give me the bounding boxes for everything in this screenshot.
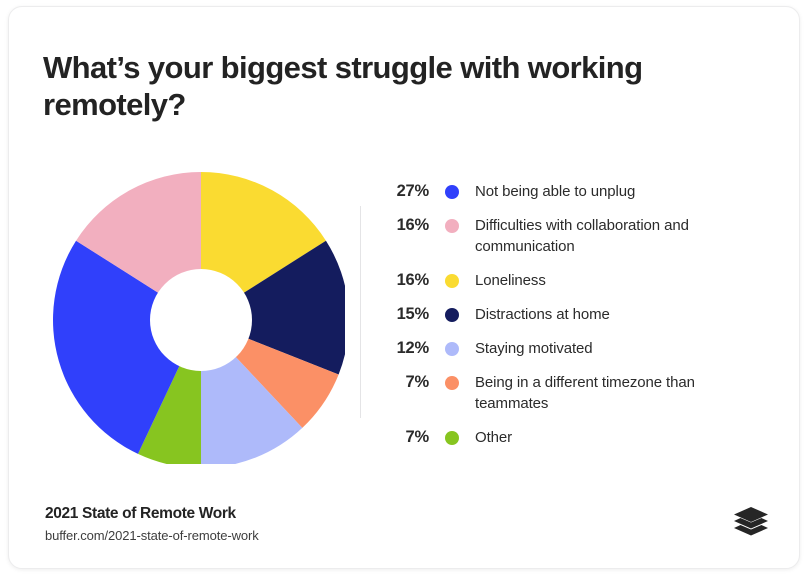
legend-item[interactable]: 7%Other — [383, 427, 773, 448]
legend-divider — [360, 206, 361, 418]
legend-item-percent: 12% — [383, 338, 429, 359]
legend-item[interactable]: 16%Difficulties with collaboration and c… — [383, 215, 773, 257]
legend-item-percent: 7% — [383, 427, 429, 448]
donut-center-hole — [150, 269, 252, 371]
buffer-layers-logo — [732, 505, 770, 539]
legend-item-percent: 16% — [383, 215, 429, 236]
legend-item-label: Being in a different timezone than teamm… — [475, 372, 765, 414]
footer-url: buffer.com/2021-state-of-remote-work — [45, 528, 259, 543]
legend-color-swatch — [445, 431, 459, 445]
footer-report-title: 2021 State of Remote Work — [45, 505, 236, 523]
chart-legend: 27%Not being able to unplug16%Difficulti… — [383, 181, 773, 448]
legend-item[interactable]: 7%Being in a different timezone than tea… — [383, 372, 773, 414]
legend-item-percent: 7% — [383, 372, 429, 393]
legend-item-percent: 16% — [383, 270, 429, 291]
legend-item-label: Loneliness — [475, 270, 546, 291]
legend-color-swatch — [445, 376, 459, 390]
legend-item-percent: 15% — [383, 304, 429, 325]
legend-item[interactable]: 15%Distractions at home — [383, 304, 773, 325]
legend-color-swatch — [445, 342, 459, 356]
legend-color-swatch — [445, 185, 459, 199]
donut-chart-svg — [45, 164, 345, 464]
legend-item-label: Distractions at home — [475, 304, 610, 325]
legend-item-label: Not being able to unplug — [475, 181, 635, 202]
legend-item[interactable]: 16%Loneliness — [383, 270, 773, 291]
legend-item-percent: 27% — [383, 181, 429, 202]
legend-item-label: Other — [475, 427, 512, 448]
legend-item-label: Staying motivated — [475, 338, 593, 359]
legend-item[interactable]: 12%Staying motivated — [383, 338, 773, 359]
legend-item[interactable]: 27%Not being able to unplug — [383, 181, 773, 202]
infographic-card: What’s your biggest struggle with workin… — [8, 6, 800, 569]
legend-color-swatch — [445, 274, 459, 288]
legend-item-label: Difficulties with collaboration and comm… — [475, 215, 765, 257]
legend-color-swatch — [445, 219, 459, 233]
page-title: What’s your biggest struggle with workin… — [43, 49, 743, 123]
donut-chart — [45, 164, 345, 464]
legend-color-swatch — [445, 308, 459, 322]
